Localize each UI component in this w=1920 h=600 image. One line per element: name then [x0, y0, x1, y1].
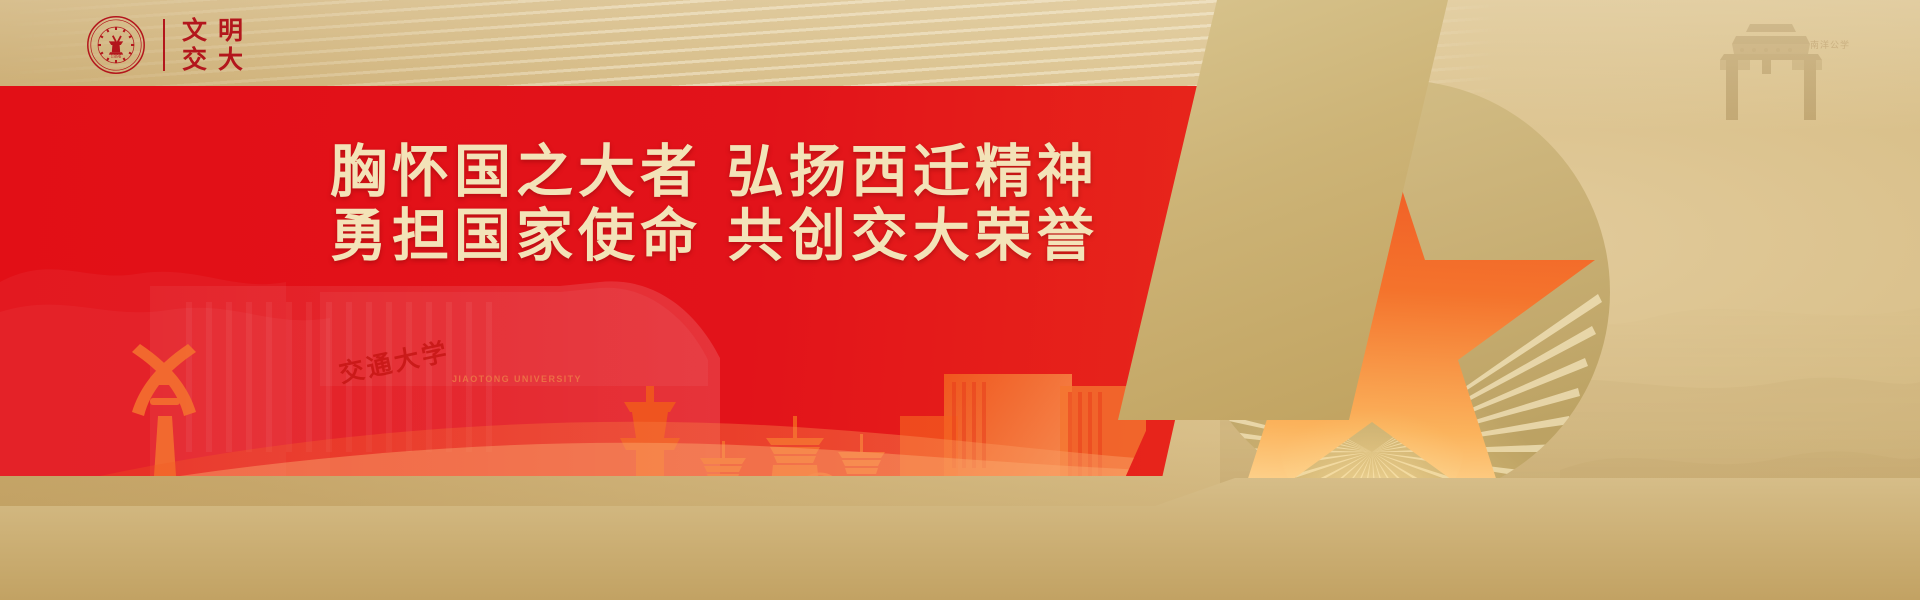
svg-text:1896: 1896: [111, 54, 122, 59]
xjtu-civilization-banner: 南洋公学: [0, 0, 1920, 600]
lockup-divider: [163, 19, 165, 71]
wordmark-char-3: 交: [182, 46, 208, 73]
campus-building-label-en: JIAOTONG UNIVERSITY: [452, 373, 582, 386]
wordmark-char-4: 大: [218, 46, 244, 73]
slogan-line-2: 勇担国家使命 共创交大荣誉: [330, 204, 1070, 268]
slogan-block: 胸怀国之大者 弘扬西迁精神 勇担国家使命 共创交大荣誉: [330, 140, 1070, 268]
wordmark-char-1: 文: [182, 17, 208, 44]
brand-lockup: 1896 文 明 交 大: [86, 14, 244, 76]
slogan-line-1: 胸怀国之大者 弘扬西迁精神: [330, 140, 1070, 204]
xjtu-university-seal-icon: 1896: [86, 15, 146, 75]
wordmark-char-2: 明: [218, 17, 244, 44]
wordmark-text: 文 明 交 大: [182, 17, 244, 73]
